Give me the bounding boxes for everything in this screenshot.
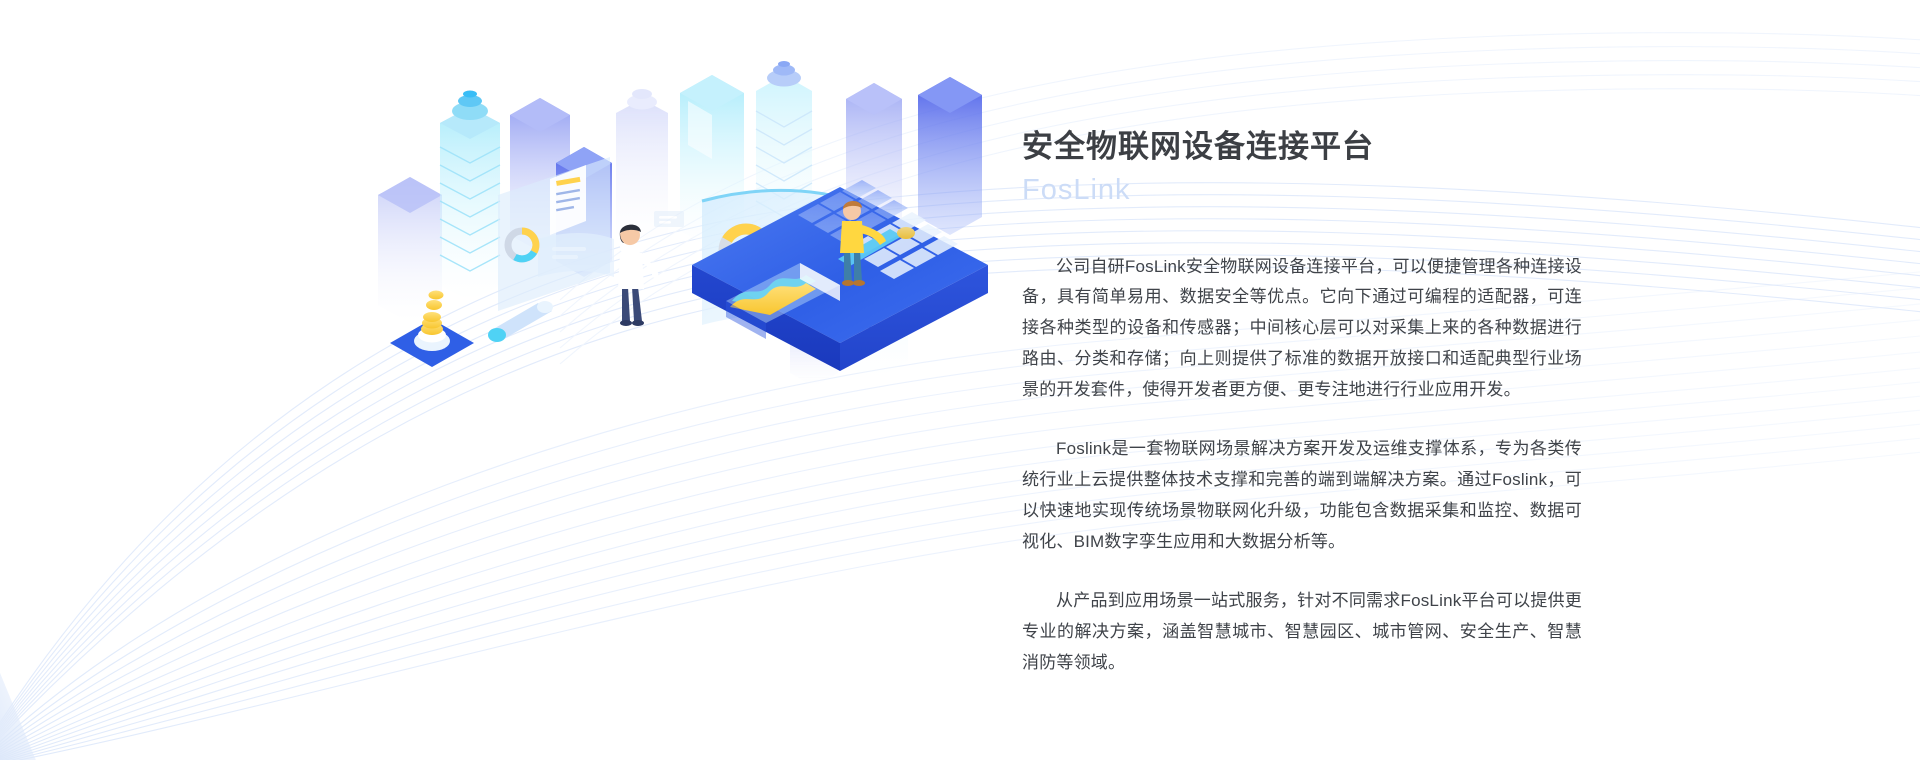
floating-label-chip <box>654 211 684 227</box>
page-subtitle: FosLink <box>1022 173 1582 208</box>
building-round-tower-left <box>440 91 500 302</box>
building-deep-blue-right <box>918 77 982 235</box>
hero-page: 安全物联网设备连接平台 FosLink 公司自研FosLink安全物联网设备连接… <box>0 0 1920 760</box>
hero-illustration <box>370 55 990 385</box>
connector-tube <box>488 301 553 342</box>
coin-token-floating <box>897 227 915 239</box>
title-block: 安全物联网设备连接平台 FosLink <box>1022 128 1582 208</box>
corner-wedge-shape <box>0 600 40 760</box>
description-paragraph-2: Foslink是一套物联网场景解决方案开发及运维支撑体系，专为各类传统行业上云提… <box>1022 434 1582 558</box>
description-paragraph-3: 从产品到应用场景一站式服务，针对不同需求FosLink平台可以提供更专业的解决方… <box>1022 586 1582 679</box>
description-paragraph-1: 公司自研FosLink安全物联网设备连接平台，可以便捷管理各种连接设备，具有简单… <box>1022 252 1582 407</box>
hero-content: 安全物联网设备连接平台 FosLink 公司自研FosLink安全物联网设备连接… <box>1022 128 1582 679</box>
page-title: 安全物联网设备连接平台 <box>1022 128 1582 167</box>
